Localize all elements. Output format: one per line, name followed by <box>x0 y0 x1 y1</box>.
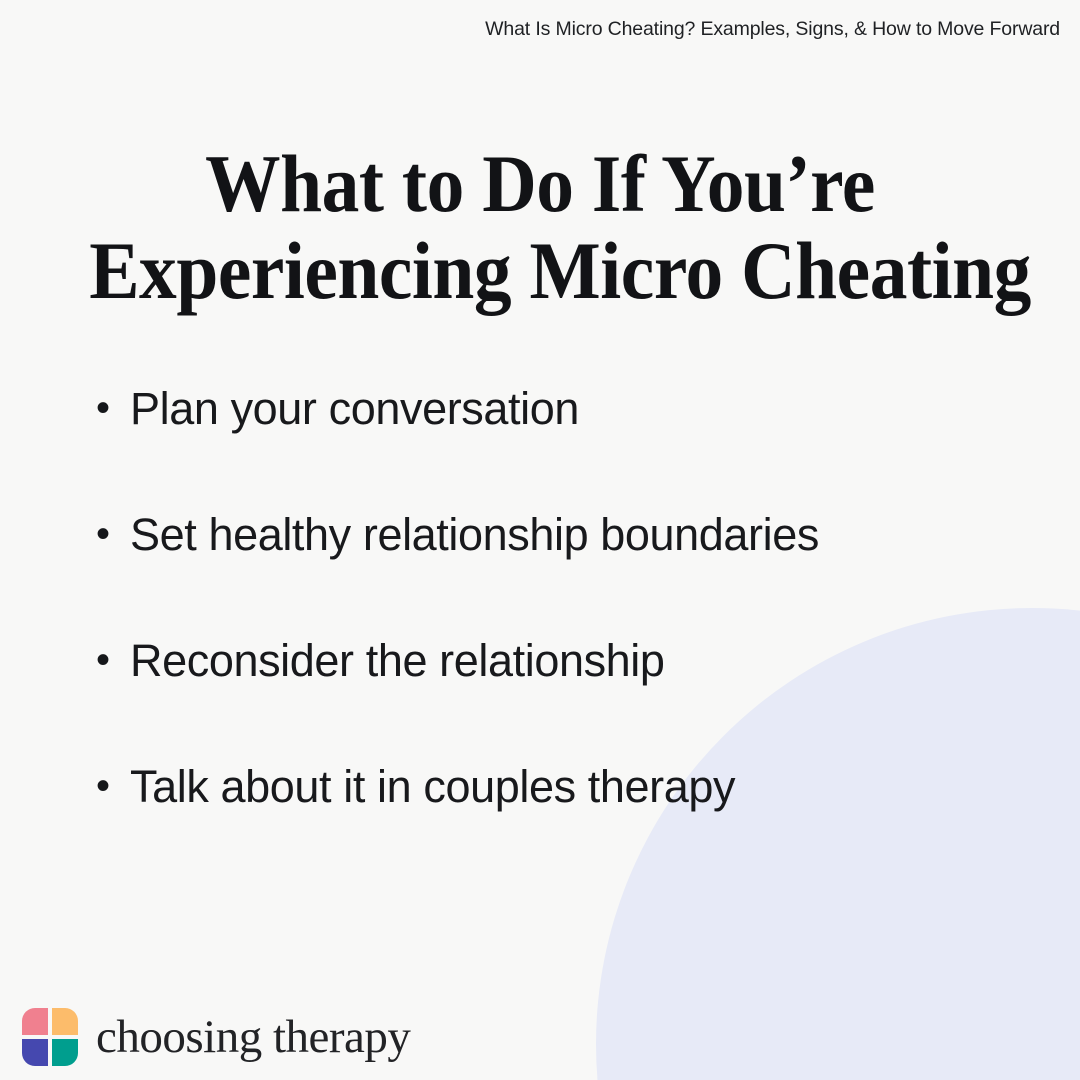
article-header-title: What Is Micro Cheating? Examples, Signs,… <box>485 18 1060 41</box>
list-item-label: Set healthy relationship boundaries <box>130 508 1036 562</box>
logo-quadrant-bottom-left <box>22 1039 48 1066</box>
page-title-line-1: What to Do If You’re <box>89 140 991 227</box>
list-item-label: Reconsider the relationship <box>130 634 1036 688</box>
social-card: What Is Micro Cheating? Examples, Signs,… <box>0 0 1080 1080</box>
bullet-point-icon: • <box>96 634 130 686</box>
logo-wordmark: choosing therapy <box>96 1012 410 1062</box>
bullet-point-icon: • <box>96 508 130 560</box>
list-item: • Reconsider the relationship <box>96 634 1036 760</box>
page-title: What to Do If You’re Experiencing Micro … <box>50 140 1030 314</box>
list-item-label: Talk about it in couples therapy <box>130 760 1036 814</box>
bullet-point-icon: • <box>96 382 130 434</box>
page-title-line-2: Experiencing Micro Cheating <box>89 227 991 314</box>
brand-logo: choosing therapy <box>22 1008 410 1066</box>
logo-quadrant-top-left <box>22 1008 48 1035</box>
logo-quadrant-top-right <box>52 1008 78 1035</box>
list-item-label: Plan your conversation <box>130 382 1036 436</box>
list-item: • Plan your conversation <box>96 382 1036 508</box>
list-item: • Talk about it in couples therapy <box>96 760 1036 886</box>
bullet-point-icon: • <box>96 760 130 812</box>
logo-quadrant-bottom-right <box>52 1039 78 1066</box>
list-item: • Set healthy relationship boundaries <box>96 508 1036 634</box>
choosing-therapy-mark-icon <box>22 1008 78 1066</box>
tips-list: • Plan your conversation • Set healthy r… <box>96 382 1036 886</box>
